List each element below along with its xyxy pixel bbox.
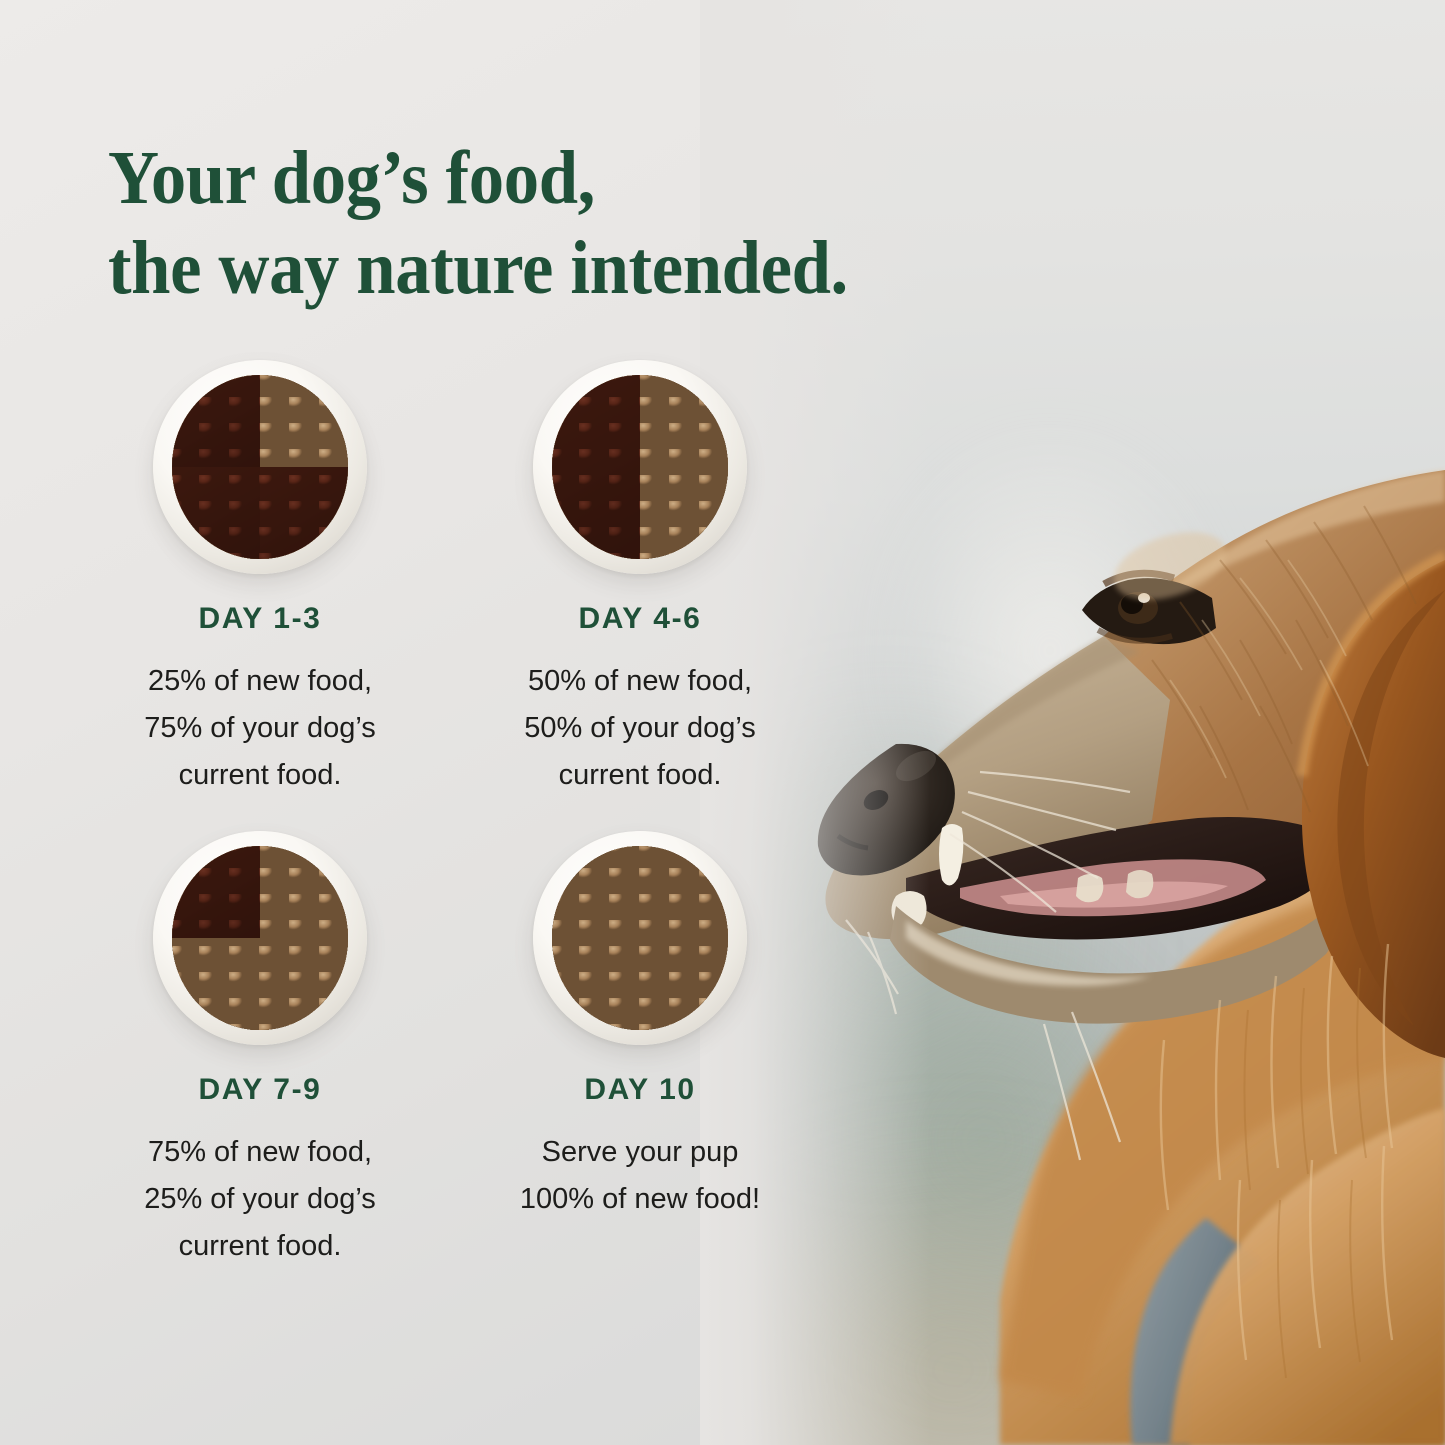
- food-bowl-icon: [153, 360, 367, 574]
- food-bowl-icon: [153, 831, 367, 1045]
- schedule-row-2: DAY 7-9 75% of new food, 25% of your dog…: [70, 831, 830, 1270]
- bowl-day-1-3: [153, 360, 367, 574]
- day-label: DAY 7-9: [199, 1073, 322, 1107]
- bowl-interior: [552, 375, 727, 559]
- step-day-1-3: DAY 1-3 25% of new food, 75% of your dog…: [70, 360, 450, 799]
- schedule-row-1: DAY 1-3 25% of new food, 75% of your dog…: [70, 360, 830, 831]
- bowl-day-10: [533, 831, 747, 1045]
- headline-line-1: Your dog’s food,: [108, 134, 1019, 224]
- food-bowl-icon: [533, 831, 747, 1045]
- day-description: 25% of new food, 75% of your dog’s curre…: [144, 658, 376, 799]
- bowl-day-7-9: [153, 831, 367, 1045]
- step-day-7-9: DAY 7-9 75% of new food, 25% of your dog…: [70, 831, 450, 1270]
- step-day-4-6: DAY 4-6 50% of new food, 50% of your dog…: [450, 360, 830, 799]
- bowl-interior: [172, 846, 347, 1030]
- bowl-day-4-6: [533, 360, 747, 574]
- day-description: Serve your pup 100% of new food!: [520, 1129, 760, 1223]
- promo-graphic: Your dog’s food, the way nature intended…: [0, 0, 1445, 1445]
- day-description: 75% of new food, 25% of your dog’s curre…: [144, 1129, 376, 1270]
- day-label: DAY 1-3: [199, 602, 322, 636]
- bowl-interior: [552, 846, 727, 1030]
- page-title: Your dog’s food, the way nature intended…: [108, 134, 1019, 313]
- step-day-10: DAY 10 Serve your pup 100% of new food!: [450, 831, 830, 1270]
- bowl-interior: [172, 375, 347, 559]
- transition-schedule: DAY 1-3 25% of new food, 75% of your dog…: [70, 360, 830, 1270]
- new-food-kibble: [552, 846, 727, 1030]
- headline-line-2: the way nature intended.: [108, 224, 1019, 314]
- day-description: 50% of new food, 50% of your dog’s curre…: [524, 658, 756, 799]
- new-food-kibble: [552, 375, 727, 559]
- food-bowl-icon: [533, 360, 747, 574]
- new-food-kibble: [172, 375, 347, 559]
- new-food-kibble: [172, 846, 347, 1030]
- day-label: DAY 4-6: [579, 602, 702, 636]
- day-label: DAY 10: [584, 1073, 695, 1107]
